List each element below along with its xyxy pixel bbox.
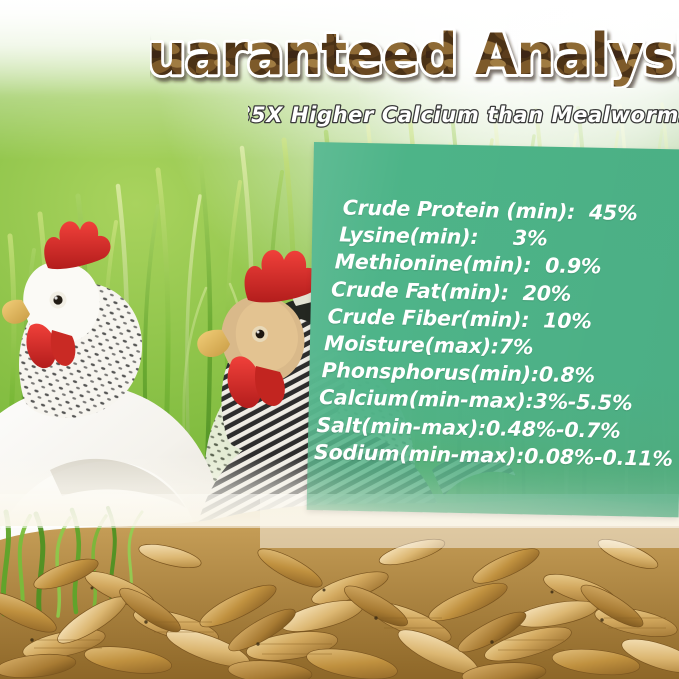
subtitle-block: 85X Higher Calcium than Mealworms: [248, 96, 679, 132]
infographic-canvas: Crude Protein (min): 45% Lysine(min): 3%…: [0, 0, 679, 679]
main-title: Guaranteed Analysis: [150, 22, 679, 88]
analysis-values-list: Crude Protein (min): 45% Lysine(min): 3%…: [313, 194, 679, 473]
title-block: Guaranteed Analysis: [150, 22, 679, 88]
title-svg: Guaranteed Analysis: [150, 22, 679, 88]
larvae-photo-band: [0, 494, 679, 679]
subtitle-text: 85X Higher Calcium than Mealworms: [248, 103, 679, 127]
subtitle-svg: 85X Higher Calcium than Mealworms: [248, 96, 679, 132]
